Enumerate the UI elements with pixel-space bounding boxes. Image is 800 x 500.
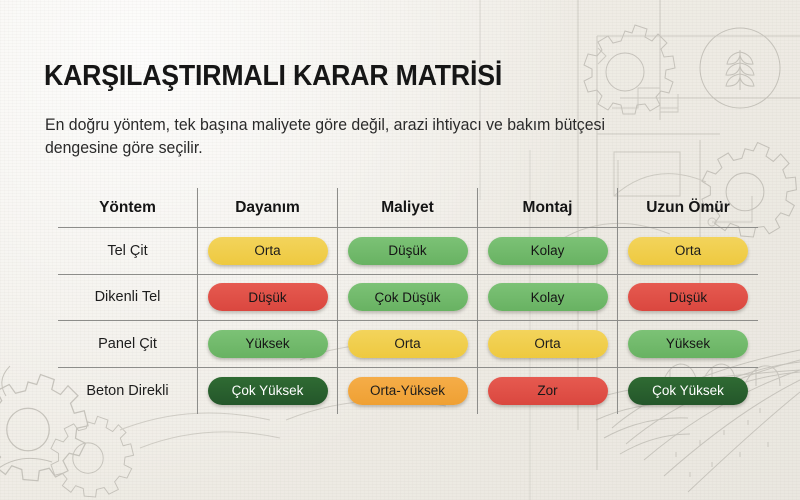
rating-pill-label: Orta bbox=[534, 337, 560, 351]
rating-cell: Düşük bbox=[618, 275, 758, 321]
column-header-label: Uzun Ömür bbox=[646, 199, 730, 217]
row-label: Beton Direkli bbox=[86, 383, 168, 399]
rating-pill: Düşük bbox=[348, 237, 468, 265]
rating-pill: Çok Yüksek bbox=[628, 377, 748, 405]
column-header-4: Montaj bbox=[478, 188, 618, 227]
row-label: Dikenli Tel bbox=[95, 289, 161, 305]
rating-cell: Kolay bbox=[478, 275, 618, 321]
column-header-label: Maliyet bbox=[381, 199, 434, 217]
rating-pill-label: Düşük bbox=[388, 244, 426, 258]
rating-cell: Orta-Yüksek bbox=[338, 368, 478, 415]
row-label-cell: Panel Çit bbox=[58, 321, 198, 367]
table-row: Beton DirekliÇok YüksekOrta-YüksekZorÇok… bbox=[58, 368, 758, 415]
rating-pill-label: Orta bbox=[675, 244, 701, 258]
rating-pill-label: Çok Düşük bbox=[374, 291, 440, 305]
rating-pill-label: Yüksek bbox=[666, 337, 710, 351]
rating-pill-label: Düşük bbox=[248, 291, 286, 305]
rating-pill-label: Kolay bbox=[531, 291, 565, 305]
rating-pill: Kolay bbox=[488, 283, 608, 311]
rating-pill: Çok Düşük bbox=[348, 283, 468, 311]
column-header-label: Montaj bbox=[523, 199, 573, 217]
column-header-label: Dayanım bbox=[235, 199, 300, 217]
rating-pill: Zor bbox=[488, 377, 608, 405]
rating-pill: Yüksek bbox=[628, 330, 748, 358]
page-title: KARŞILAŞTIRMALI KARAR MATRİSİ bbox=[44, 60, 502, 93]
rating-cell: Çok Düşük bbox=[338, 275, 478, 321]
rating-cell: Düşük bbox=[198, 275, 338, 321]
rating-pill-label: Orta bbox=[394, 337, 420, 351]
rating-pill-label: Orta-Yüksek bbox=[370, 384, 445, 398]
row-label: Panel Çit bbox=[98, 336, 157, 352]
rating-pill: Kolay bbox=[488, 237, 608, 265]
rating-pill: Orta bbox=[208, 237, 328, 265]
rating-pill: Düşük bbox=[208, 283, 328, 311]
rating-cell: Yüksek bbox=[618, 321, 758, 367]
rating-pill-label: Kolay bbox=[531, 244, 565, 258]
rating-pill-label: Yüksek bbox=[245, 337, 289, 351]
rating-pill: Orta bbox=[348, 330, 468, 358]
column-header-5: Uzun Ömür bbox=[618, 188, 758, 227]
rating-pill-label: Orta bbox=[254, 244, 280, 258]
rating-pill-label: Çok Yüksek bbox=[232, 384, 304, 398]
column-header-label: Yöntem bbox=[99, 199, 156, 217]
rating-cell: Orta bbox=[198, 228, 338, 274]
rating-pill-label: Çok Yüksek bbox=[652, 384, 724, 398]
rating-pill: Orta bbox=[628, 237, 748, 265]
rating-cell: Orta bbox=[338, 321, 478, 367]
table-row: Panel ÇitYüksekOrtaOrtaYüksek bbox=[58, 321, 758, 368]
row-label: Tel Çit bbox=[107, 243, 147, 259]
rating-pill: Orta-Yüksek bbox=[348, 377, 468, 405]
table-row: Dikenli TelDüşükÇok DüşükKolayDüşük bbox=[58, 275, 758, 322]
row-label-cell: Dikenli Tel bbox=[58, 275, 198, 321]
slide-content: KARŞILAŞTIRMALI KARAR MATRİSİ En doğru y… bbox=[0, 0, 800, 500]
column-header-2: Dayanım bbox=[198, 188, 338, 227]
rating-pill: Düşük bbox=[628, 283, 748, 311]
rating-pill: Yüksek bbox=[208, 330, 328, 358]
column-header-3: Maliyet bbox=[338, 188, 478, 227]
rating-pill-label: Düşük bbox=[669, 291, 707, 305]
rating-pill: Çok Yüksek bbox=[208, 377, 328, 405]
rating-pill: Orta bbox=[488, 330, 608, 358]
column-header-1: Yöntem bbox=[58, 188, 198, 227]
rating-cell: Orta bbox=[618, 228, 758, 274]
row-label-cell: Beton Direkli bbox=[58, 368, 198, 415]
rating-cell: Yüksek bbox=[198, 321, 338, 367]
rating-cell: Çok Yüksek bbox=[198, 368, 338, 415]
table-header-row: YöntemDayanımMaliyetMontajUzun Ömür bbox=[58, 188, 758, 228]
rating-cell: Zor bbox=[478, 368, 618, 415]
rating-cell: Düşük bbox=[338, 228, 478, 274]
rating-cell: Çok Yüksek bbox=[618, 368, 758, 415]
rating-cell: Kolay bbox=[478, 228, 618, 274]
comparison-matrix-table: YöntemDayanımMaliyetMontajUzun ÖmürTel Ç… bbox=[58, 188, 758, 414]
row-label-cell: Tel Çit bbox=[58, 228, 198, 274]
rating-pill-label: Zor bbox=[537, 384, 557, 398]
page-subtitle: En doğru yöntem, tek başına maliyete gör… bbox=[45, 114, 650, 161]
table-row: Tel ÇitOrtaDüşükKolayOrta bbox=[58, 228, 758, 275]
rating-cell: Orta bbox=[478, 321, 618, 367]
slide-canvas: KARŞILAŞTIRMALI KARAR MATRİSİ En doğru y… bbox=[0, 0, 800, 500]
